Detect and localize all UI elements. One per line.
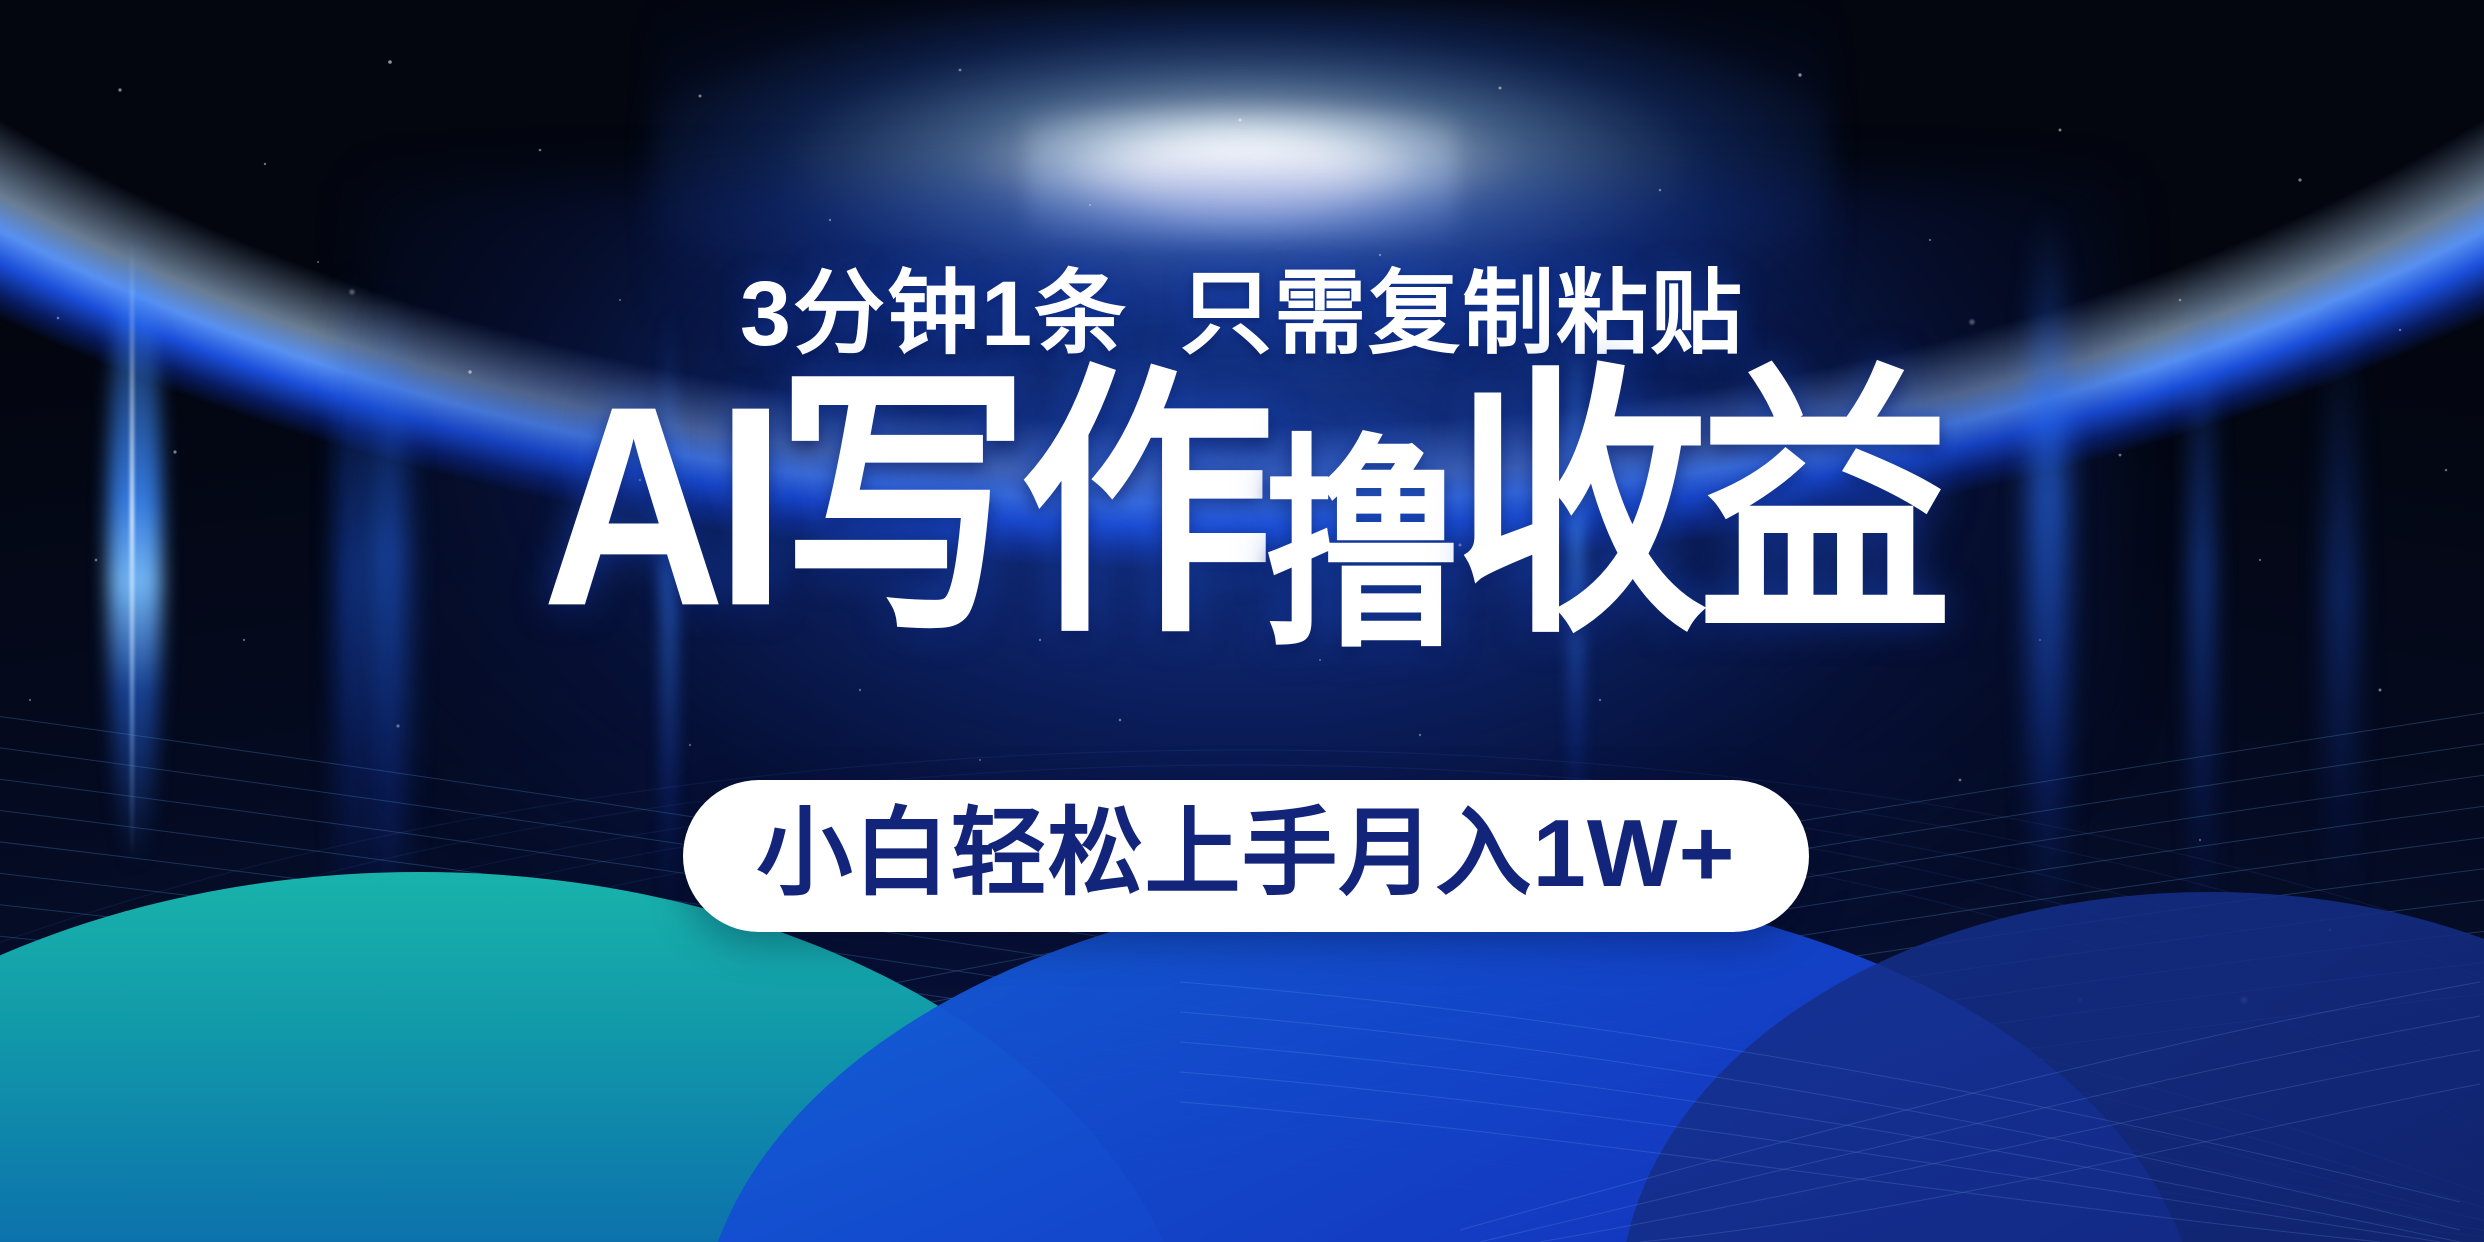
headline-segment-income: 收益: [1454, 364, 1942, 648]
wire-mesh-overlay: [0, 682, 2484, 1242]
poster-canvas: 3分钟1条只需复制粘贴 AI写作撸收益 小白轻松上手月入1W+: [0, 0, 2484, 1242]
headline-segment-lu: 撸: [1264, 434, 1454, 661]
status-badge: 小白轻松上手月入1W+: [683, 780, 1809, 932]
bottom-decoration-group: [0, 682, 2484, 1242]
headline-segment-ai-writing: AI写作: [542, 364, 1264, 648]
status-badge-label: 小白轻松上手月入1W+: [756, 806, 1735, 902]
page-title: AI写作撸收益: [0, 394, 2484, 648]
